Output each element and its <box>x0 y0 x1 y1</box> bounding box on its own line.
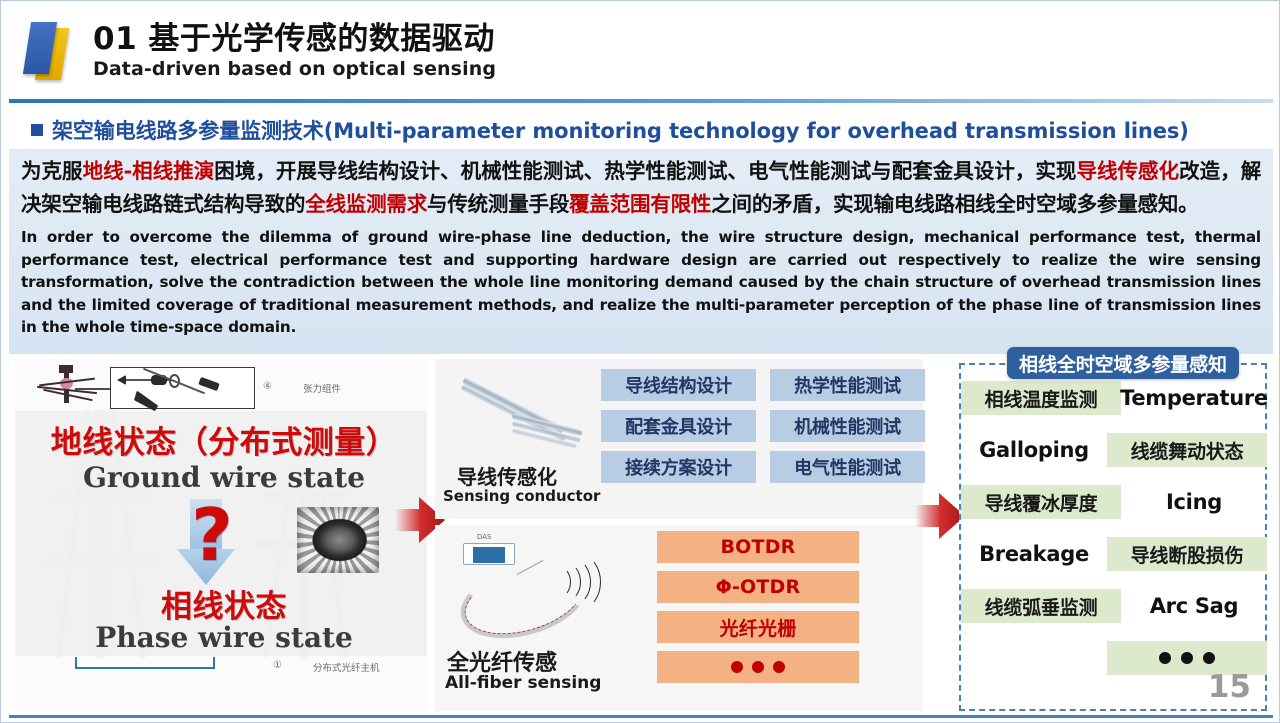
span-bracket <box>75 657 215 669</box>
parameter-label-en: Galloping <box>961 433 1107 467</box>
highlighted-phrase: 全线监测需求 <box>305 192 427 216</box>
chip-blue[interactable]: 热学性能测试 <box>770 369 925 401</box>
right-arrow-icon-2 <box>915 493 965 539</box>
right-panel-title: 相线全时空域多参量感知 <box>1007 347 1239 379</box>
page-number: 15 <box>1208 669 1251 705</box>
paragraph-text: 困境，开展导线结构设计、机械性能测试、热学性能测试、电气性能测试与配套金具设计，… <box>214 159 1076 183</box>
parallelogram-logo-icon <box>21 18 79 84</box>
callout-number-4: ④ <box>263 381 272 392</box>
highlighted-phrase: 地线-相线推演 <box>83 159 215 183</box>
chip-blue[interactable]: 配套金具设计 <box>601 410 756 442</box>
caption-sensing-conductor-cn: 导线传感化 <box>457 461 557 490</box>
label-distributed-fiber-host: 分布式光纤主机 <box>313 660 380 674</box>
fiber-sensing-diagram: DAS <box>453 533 613 641</box>
chip-green[interactable]: 导线断股损伤 <box>1107 537 1267 571</box>
paragraph-text: 之间的矛盾，实现输电线路相线全时空域多参量感知。 <box>711 192 1198 216</box>
parameter-label-en: Temperature <box>1121 381 1267 415</box>
chip-green[interactable]: 导线覆冰厚度 <box>961 485 1121 519</box>
parameter-label-en: Icing <box>1121 485 1267 519</box>
parameter-label-en: Breakage <box>961 537 1107 571</box>
parameter-label-en: Arc Sag <box>1121 589 1267 623</box>
chip-blue[interactable]: 导线结构设计 <box>601 369 756 401</box>
sensing-conductor-image <box>459 371 589 455</box>
highlighted-phrase: 覆盖范围有限性 <box>569 192 711 216</box>
phase-wire-state-cn: 相线状态 <box>29 581 419 626</box>
dots-icon <box>1159 652 1215 664</box>
slide: 01 基于光学传感的数据驱动 Data-driven based on opti… <box>0 0 1280 723</box>
title-block: 01 基于光学传感的数据驱动 Data-driven based on opti… <box>93 22 496 81</box>
sensing-conductor-group: 导线传感化 Sensing conductor 导线结构设计热学性能测试配套金具… <box>435 359 923 519</box>
tower-thumbnail-icon <box>33 363 103 407</box>
question-mark-label: ? <box>183 499 241 571</box>
paragraph-text: 为克服 <box>21 159 83 183</box>
left-panel: ④ 张力组件 ① 分布式光纤主机 地线状态（分布式测量） Ground wire… <box>15 359 427 711</box>
fiber-technique-chip-list: BOTDRΦ-OTDR光纤光栅 <box>657 531 859 683</box>
chip-green[interactable]: 线缆舞动状态 <box>1107 433 1267 467</box>
parameter-row: 线缆弧垂监测Arc Sag <box>961 583 1269 629</box>
ground-wire-state-cn: 地线状态（分布式测量） <box>29 417 419 462</box>
description-box: 为克服地线-相线推演困境，开展导线结构设计、机械性能测试、热学性能测试、电气性能… <box>9 149 1273 354</box>
page-title-en: Data-driven based on optical sensing <box>93 58 496 80</box>
footer-divider <box>9 715 1273 718</box>
square-bullet-icon <box>31 124 43 136</box>
chip-orange[interactable]: BOTDR <box>657 531 859 563</box>
chip-orange-more[interactable] <box>657 651 859 683</box>
tension-assembly-diagram-icon <box>110 367 255 409</box>
parameter-row: Breakage导线断股损伤 <box>961 531 1269 577</box>
description-cn: 为克服地线-相线推演困境，开展导线结构设计、机械性能测试、热学性能测试、电气性能… <box>21 155 1261 221</box>
middle-panel: 导线传感化 Sensing conductor 导线结构设计热学性能测试配套金具… <box>435 359 923 711</box>
chip-blue[interactable]: 接续方案设计 <box>601 451 756 483</box>
cable-cross-section-photo <box>297 507 379 573</box>
chip-orange[interactable]: 光纤光栅 <box>657 611 859 643</box>
parameter-row: 相线温度监测Temperature <box>961 375 1269 421</box>
chip-green[interactable]: 相线温度监测 <box>961 381 1121 415</box>
all-fiber-sensing-group: DAS 全光纤传感 All-fiber sensing BOTDRΦ-OTDR光… <box>435 525 923 711</box>
header-divider <box>9 99 1273 103</box>
chip-green[interactable]: 线缆弧垂监测 <box>961 589 1121 623</box>
right-panel: 相线温度监测TemperatureGalloping线缆舞动状态导线覆冰厚度Ic… <box>959 363 1267 711</box>
description-en: In order to overcome the dilemma of grou… <box>21 226 1261 339</box>
label-tension-assembly: 张力组件 <box>303 381 341 395</box>
parameter-row: 导线覆冰厚度Icing <box>961 479 1269 525</box>
callout-number-1: ① <box>273 660 282 671</box>
label-das: DAS <box>477 533 492 541</box>
chip-orange[interactable]: Φ-OTDR <box>657 571 859 603</box>
phase-wire-state-en: Phase wire state <box>29 621 419 654</box>
sensing-conductor-chip-grid: 导线结构设计热学性能测试配套金具设计机械性能测试接续方案设计电气性能测试 <box>601 369 925 483</box>
paragraph-text: 与传统测量手段 <box>427 192 569 216</box>
highlighted-phrase: 导线传感化 <box>1076 159 1179 183</box>
section-subheading: 架空输电线路多参量监测技术(Multi-parameter monitoring… <box>9 111 1273 149</box>
dots-icon <box>731 661 785 673</box>
chip-blue[interactable]: 机械性能测试 <box>770 410 925 442</box>
page-title-cn: 01 基于光学传感的数据驱动 <box>93 22 496 57</box>
slide-header: 01 基于光学传感的数据驱动 Data-driven based on opti… <box>9 7 1273 95</box>
caption-all-fiber-en: All-fiber sensing <box>445 673 601 693</box>
parameter-row: Galloping线缆舞动状态 <box>961 427 1269 473</box>
caption-sensing-conductor-en: Sensing conductor <box>443 487 600 505</box>
subheading-label: 架空输电线路多参量监测技术(Multi-parameter monitoring… <box>52 115 1189 145</box>
diagram-area: ④ 张力组件 ① 分布式光纤主机 地线状态（分布式测量） Ground wire… <box>9 359 1273 717</box>
ground-wire-state-en: Ground wire state <box>29 461 419 494</box>
chip-blue[interactable]: 电气性能测试 <box>770 451 925 483</box>
